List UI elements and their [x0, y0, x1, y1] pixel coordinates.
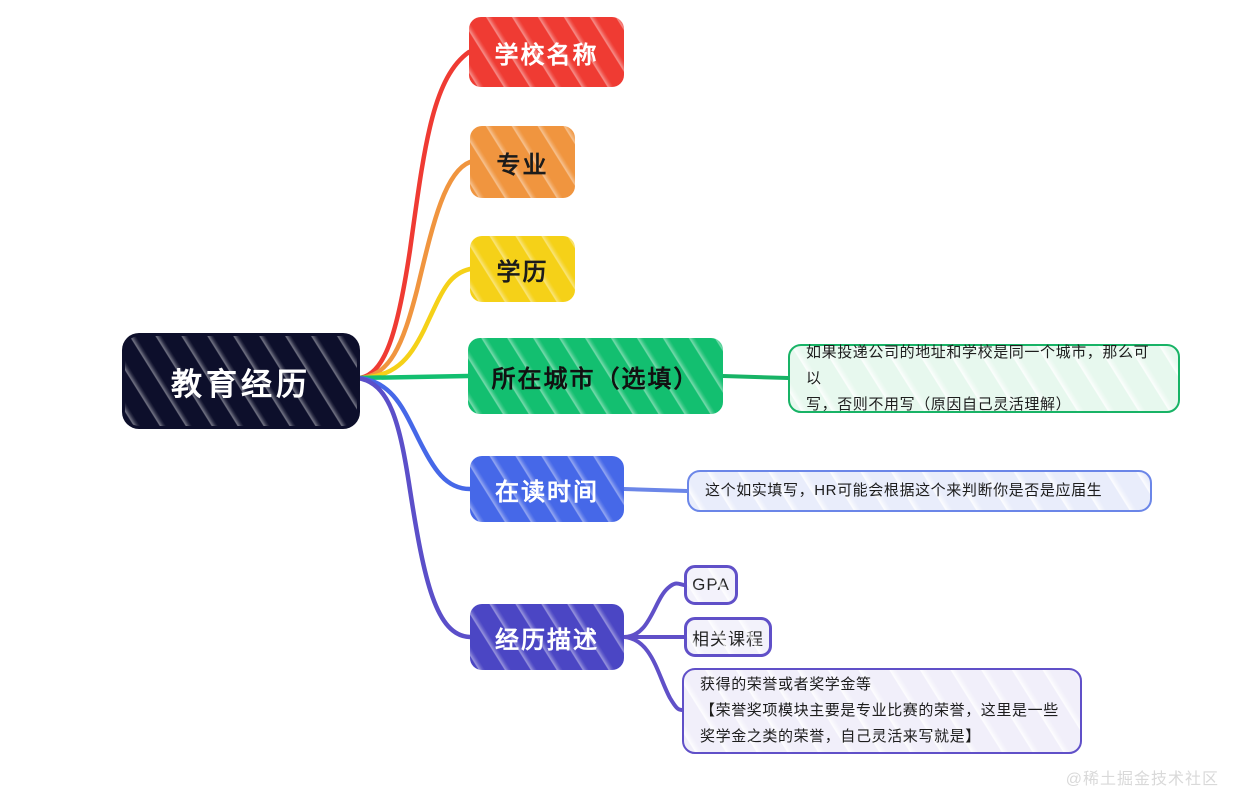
edge-desc-gpa: [624, 584, 684, 638]
branch-node-degree[interactable]: 学历: [470, 236, 575, 302]
callout-city-line-1: 如果投递公司的地址和学校是同一个城市，那么可以: [806, 340, 1162, 392]
branch-node-desc[interactable]: 经历描述: [470, 604, 624, 670]
edge-city-callout: [723, 376, 788, 378]
edge-desc-honor: [624, 637, 682, 710]
watermark: @稀土掘金技术社区: [1066, 765, 1219, 789]
callout-honor-line-3: 奖学金之类的荣誉，自己灵活来写就是】: [700, 724, 1064, 750]
edge-root-city: [357, 376, 468, 378]
callout-city-line-2: 写，否则不用写（原因自己灵活理解）: [806, 392, 1162, 418]
callout-honor-line-2: 【荣誉奖项模块主要是专业比赛的荣誉，这里是一些: [700, 698, 1064, 724]
callout-time[interactable]: 这个如实填写，HR可能会根据这个来判断你是否是应届生: [687, 470, 1152, 512]
branch-label-city: 所在城市（选填）: [492, 359, 700, 394]
root-node-label: 教育经历: [171, 359, 311, 404]
edge-time-callout: [624, 489, 687, 491]
callout-honor-line-1: 获得的荣誉或者奖学金等: [700, 672, 1064, 698]
callout-time-line-1: 这个如实填写，HR可能会根据这个来判断你是否是应届生: [705, 478, 1134, 504]
subnode-label-course: 相关课程: [692, 625, 764, 650]
edge-root-degree: [357, 269, 470, 378]
subnode-label-gpa: GPA: [692, 575, 730, 595]
edge-root-school: [357, 52, 469, 378]
branch-label-desc: 经历描述: [495, 620, 599, 655]
root-node[interactable]: 教育经历: [125, 336, 357, 426]
edge-root-desc: [357, 378, 470, 637]
edge-root-major: [357, 162, 470, 378]
callout-city[interactable]: 如果投递公司的地址和学校是同一个城市，那么可以 写，否则不用写（原因自己灵活理解…: [788, 344, 1180, 413]
subnode-gpa[interactable]: GPA: [684, 565, 738, 605]
branch-label-degree: 学历: [497, 252, 549, 287]
mindmap-canvas: 教育经历 学校名称 专业 学历 所在城市（选填） 在读时间 经历描述 GPA 相…: [0, 0, 1237, 801]
branch-node-major[interactable]: 专业: [470, 126, 575, 198]
branch-label-major: 专业: [497, 145, 549, 180]
branch-node-city[interactable]: 所在城市（选填）: [468, 338, 723, 414]
branch-label-time: 在读时间: [495, 472, 599, 507]
edge-root-time: [357, 378, 470, 489]
branch-node-time[interactable]: 在读时间: [470, 456, 624, 522]
branch-node-school[interactable]: 学校名称: [469, 17, 624, 87]
branch-label-school: 学校名称: [495, 35, 599, 70]
callout-honor[interactable]: 获得的荣誉或者奖学金等 【荣誉奖项模块主要是专业比赛的荣誉，这里是一些 奖学金之…: [682, 668, 1082, 754]
subnode-course[interactable]: 相关课程: [684, 617, 772, 657]
